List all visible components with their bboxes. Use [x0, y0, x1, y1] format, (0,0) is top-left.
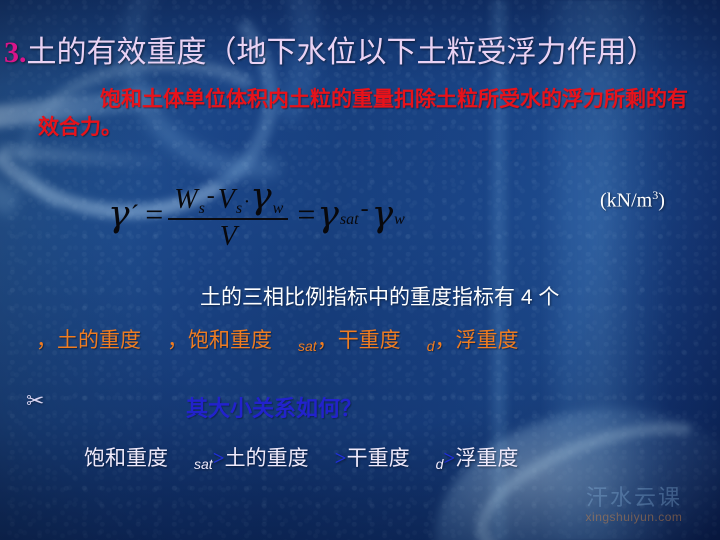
formula-gamma-water: γ — [372, 194, 394, 235]
question-prompt: 其大小关系如何？ — [186, 391, 362, 423]
comparison-gt-2: > — [335, 446, 347, 470]
formula-fraction: Ws-Vs·γw V — [168, 176, 288, 253]
list-comma-2: ， — [167, 329, 188, 352]
formula-prime: ´ — [131, 200, 140, 230]
formula-gamma-w-subscript: w — [273, 200, 284, 218]
formula-gamma-water-subscript: w — [394, 211, 405, 229]
formula-unit-label: (kN/m3) — [600, 188, 665, 213]
watermark-chinese: 汗水云课 — [548, 486, 720, 510]
comparison-subscript-d: d — [436, 456, 444, 472]
title-number: 3. — [4, 36, 27, 69]
formula-Ws-subscript: s — [199, 200, 205, 218]
effective-unit-weight-formula: γ´ = Ws-Vs·γw V = γsat-γw — [108, 176, 404, 253]
formula-equals-2: = — [297, 196, 315, 233]
unit-close: ) — [658, 190, 665, 212]
list-item-dry-unit-weight: 干重度 — [338, 329, 401, 352]
list-item-soil-unit-weight: 土的重度 — [57, 329, 141, 352]
comparison-gt-1: > — [213, 446, 225, 470]
indicator-list: ，土的重度，饱和重度sat，干重度d，浮重度 — [36, 325, 706, 358]
watermark: 汗水云课 xingshuiyun.com — [548, 486, 720, 524]
formula-Ws: W — [174, 184, 197, 216]
list-item-buoyant-unit-weight: 浮重度 — [455, 329, 518, 352]
formula-denominator: V — [220, 220, 237, 253]
list-subscript-d: d — [427, 338, 435, 354]
formula-gamma-sat-subscript: sat — [340, 211, 359, 229]
formula-gamma-sat: γ — [317, 194, 339, 235]
comparison-item-saturated: 饱和重度 — [84, 447, 168, 470]
formula-gamma-w: γ — [250, 176, 272, 217]
formula-minus-2: - — [361, 196, 369, 223]
list-subscript-sat: sat — [298, 338, 317, 354]
unit-open: (kN/m — [600, 190, 652, 212]
formula-multiply-dot: · — [244, 191, 249, 214]
formula-minus-1: - — [207, 183, 215, 210]
comparison-item-buoyant: 浮重度 — [455, 447, 518, 470]
comparison-item-soil: 土的重度 — [225, 447, 309, 470]
comparison-subscript-sat: sat — [194, 456, 213, 472]
page-title: 3.土的有效重度（地下水位以下土粒受浮力作用） — [4, 33, 716, 73]
list-comma-1: ， — [36, 329, 57, 352]
comparison-item-dry: 干重度 — [347, 447, 410, 470]
comparison-gt-3: > — [443, 446, 455, 470]
formula-Vs: V — [218, 184, 235, 216]
indicator-count-line: 土的三相比例指标中的重度指标有 4 个 — [70, 284, 710, 312]
list-comma-4: ， — [434, 329, 455, 352]
formula-equals-1: = — [145, 196, 163, 233]
formula-Vs-subscript: s — [236, 200, 242, 218]
list-item-saturated-unit-weight: 饱和重度 — [188, 329, 272, 352]
comparison-line: 饱和重度sat>土的重度>干重度d>浮重度 — [36, 443, 706, 476]
slide-canvas: 3.土的有效重度（地下水位以下土粒受浮力作用） 饱和土体单位体积内土粒的重量扣除… — [0, 0, 720, 540]
scissors-icon: ✂ — [26, 390, 44, 412]
formula-gamma-lhs: γ — [108, 194, 130, 235]
definition-paragraph: 饱和土体单位体积内土粒的重量扣除土粒所受水的浮力所剩的有效合力。 — [38, 86, 704, 142]
slide-content: 3.土的有效重度（地下水位以下土粒受浮力作用） 饱和土体单位体积内土粒的重量扣除… — [0, 0, 720, 540]
title-text: 土的有效重度（地下水位以下土粒受浮力作用） — [27, 36, 657, 69]
list-comma-3: ， — [317, 329, 338, 352]
formula-numerator: Ws-Vs·γw — [168, 176, 288, 218]
watermark-url: xingshuiyun.com — [548, 510, 720, 524]
